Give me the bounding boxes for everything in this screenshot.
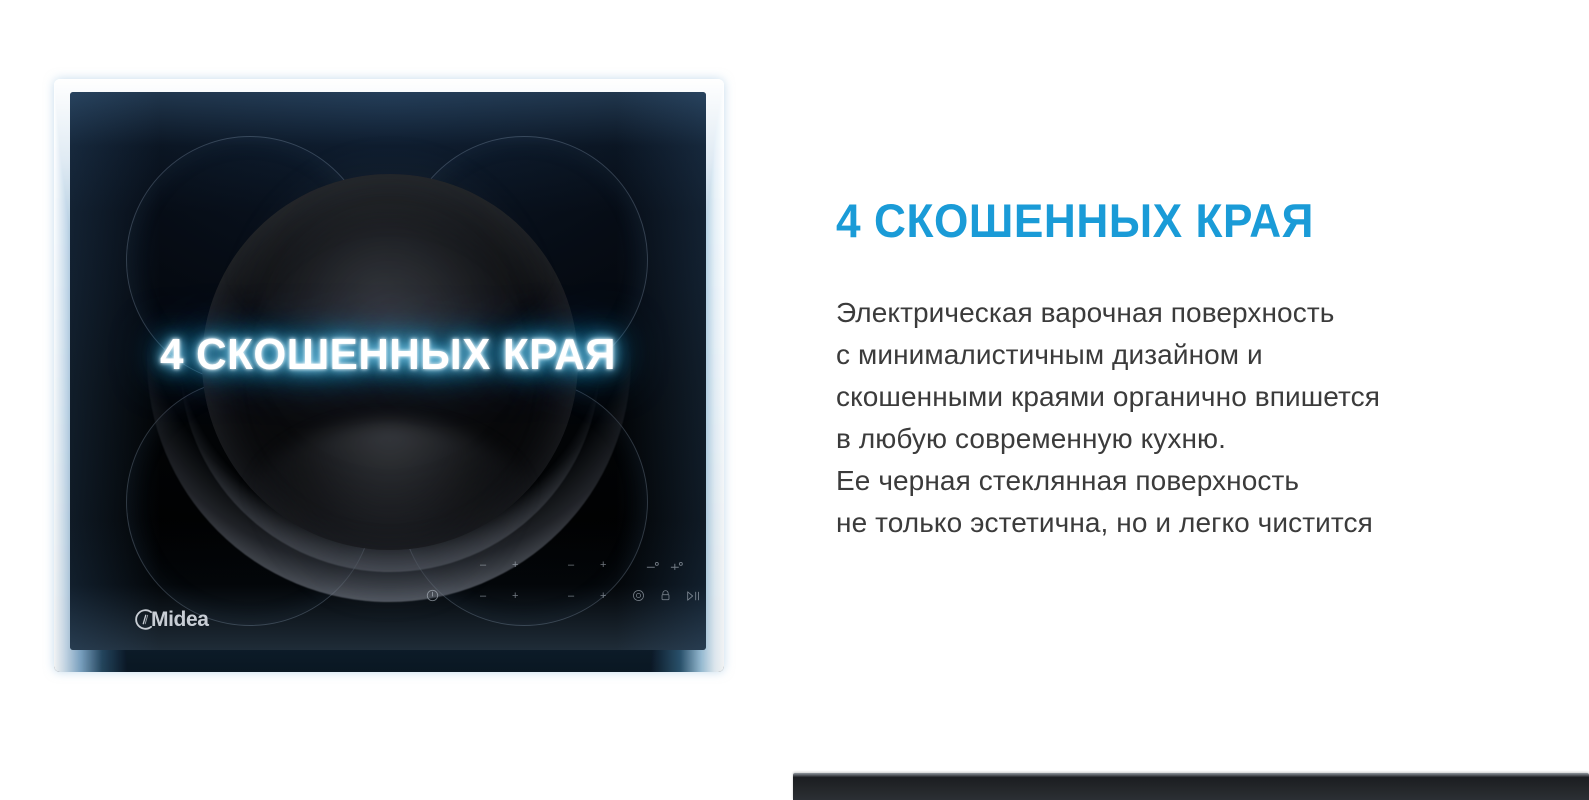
product-photo-cooktop: 4 СКОШЕННЫХ КРАЯ Midea – + – +: [54, 79, 724, 672]
body-line: Ее черная стеклянная поверхность: [836, 460, 1536, 502]
midea-logo: Midea: [134, 609, 209, 630]
zone1-plus-icon[interactable]: +: [512, 591, 518, 602]
zone1-minus-upper-icon[interactable]: –: [480, 560, 486, 571]
timer-icon[interactable]: [632, 589, 645, 602]
zone1-plus-upper-icon[interactable]: +: [512, 560, 518, 571]
slide-root: 4 СКОШЕННЫХ КРАЯ Midea – + – +: [0, 0, 1589, 800]
power-button-icon[interactable]: [426, 589, 439, 602]
zone2-plus-upper-icon[interactable]: +: [600, 560, 606, 571]
body-copy: Электрическая варочная поверхность с мин…: [836, 245, 1536, 544]
body-line: Электрическая варочная поверхность: [836, 292, 1536, 334]
text-content-block: 4 СКОШЕННЫХ КРАЯ Электрическая варочная …: [836, 196, 1536, 544]
touch-control-panel[interactable]: – + – +: [420, 558, 688, 604]
zone1-minus-icon[interactable]: –: [480, 591, 486, 602]
boost-right-icon[interactable]: [670, 560, 684, 571]
body-line: не только эстетична, но и легко чистится: [836, 502, 1536, 544]
midea-wordmark: Midea: [151, 609, 209, 630]
page-title: 4 СКОШЕННЫХ КРАЯ: [836, 196, 1494, 245]
adjacent-image-edge-strip: [793, 773, 1589, 800]
sphere-highlight-top: [220, 142, 560, 342]
body-line: с минималистичным дизайном и: [836, 334, 1536, 376]
zone2-plus-icon[interactable]: +: [600, 591, 606, 602]
zone2-minus-upper-icon[interactable]: –: [568, 560, 574, 571]
glass-cooking-surface: 4 СКОШЕННЫХ КРАЯ Midea – + – +: [70, 92, 706, 650]
body-line: скошенными краями органично впишется: [836, 376, 1536, 418]
child-lock-icon[interactable]: [660, 589, 671, 602]
body-line: в любую современную кухню.: [836, 418, 1536, 460]
boost-left-icon[interactable]: [646, 560, 660, 571]
pause-button-icon[interactable]: [686, 590, 701, 602]
zone2-minus-icon[interactable]: –: [568, 591, 574, 602]
